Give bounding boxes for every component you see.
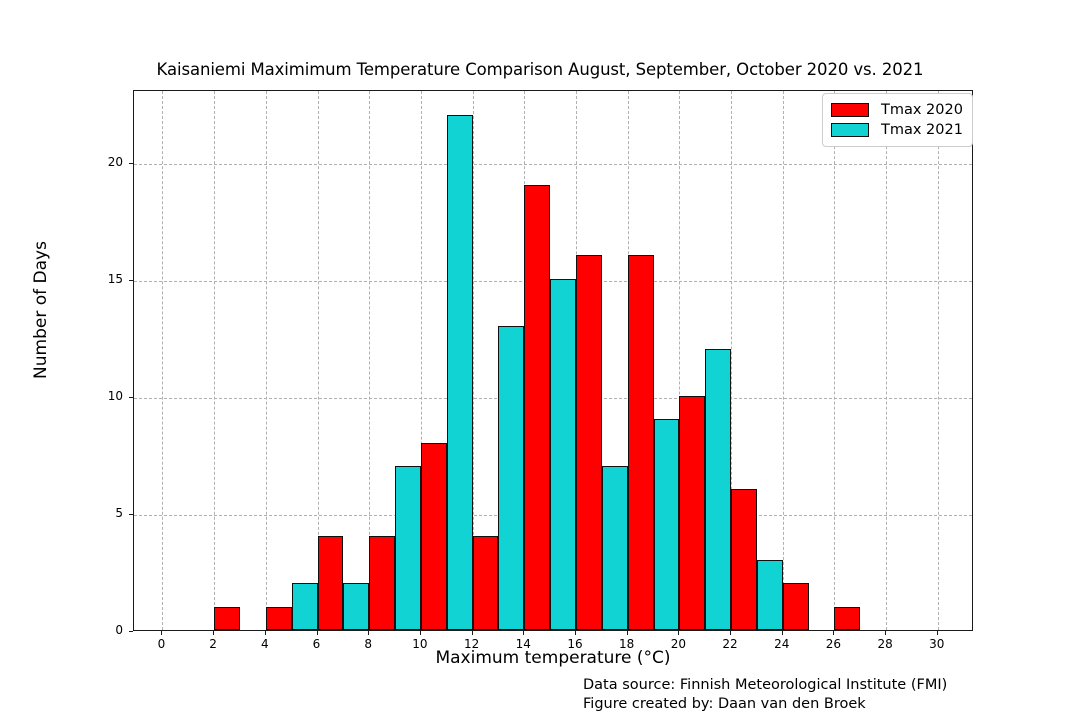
- x-tick-mark: [627, 631, 628, 635]
- gridline-vertical: [214, 91, 215, 630]
- bar-tmax-2021: [757, 560, 783, 630]
- x-tick-mark: [213, 631, 214, 635]
- bar-tmax-2021: [654, 419, 680, 630]
- x-tick-mark: [368, 631, 369, 635]
- x-tick-mark: [523, 631, 524, 635]
- y-tick-mark: [129, 397, 133, 398]
- chart-legend: Tmax 2020 Tmax 2021: [822, 93, 973, 147]
- legend-item: Tmax 2021: [831, 120, 963, 140]
- figure-canvas: Kaisaniemi Maximimum Temperature Compari…: [0, 0, 1080, 720]
- y-tick-label: 0: [93, 623, 123, 637]
- bar-tmax-2021: [292, 583, 318, 630]
- footer-data-source: Data source: Finnish Meteorological Inst…: [583, 676, 947, 695]
- y-tick-mark: [129, 280, 133, 281]
- bar-tmax-2020: [369, 536, 395, 630]
- gridline-horizontal: [134, 164, 972, 165]
- gridline-vertical: [834, 91, 835, 630]
- chart-title: Kaisaniemi Maximimum Temperature Compari…: [0, 60, 1080, 79]
- x-tick-mark: [678, 631, 679, 635]
- plot-area: [133, 90, 973, 631]
- bar-tmax-2020: [731, 489, 757, 630]
- bar-tmax-2020: [679, 396, 705, 630]
- gridline-vertical: [783, 91, 784, 630]
- x-tick-mark: [575, 631, 576, 635]
- x-axis-label: Maximum temperature (°C): [133, 648, 973, 668]
- x-tick-mark: [885, 631, 886, 635]
- legend-label-tmax-2021: Tmax 2021: [881, 122, 963, 138]
- figure-footer: Data source: Finnish Meteorological Inst…: [583, 676, 947, 714]
- bar-tmax-2021: [602, 466, 628, 630]
- legend-item: Tmax 2020: [831, 100, 963, 120]
- bar-tmax-2021: [705, 349, 731, 630]
- bar-tmax-2020: [266, 607, 292, 630]
- x-tick-mark: [265, 631, 266, 635]
- bar-tmax-2021: [498, 326, 524, 630]
- gridline-vertical: [266, 91, 267, 630]
- y-axis-label: Number of Days: [31, 160, 51, 460]
- bar-tmax-2020: [421, 443, 447, 630]
- bar-tmax-2020: [628, 255, 654, 630]
- x-tick-mark: [937, 631, 938, 635]
- gridline-vertical: [886, 91, 887, 630]
- footer-author: Figure created by: Daan van den Broek: [583, 695, 947, 714]
- gridline-vertical: [938, 91, 939, 630]
- y-tick-mark: [129, 514, 133, 515]
- bar-tmax-2021: [447, 115, 473, 630]
- bar-tmax-2020: [473, 536, 499, 630]
- y-tick-mark: [129, 631, 133, 632]
- y-tick-label: 5: [93, 506, 123, 520]
- x-tick-mark: [472, 631, 473, 635]
- gridline-vertical: [162, 91, 163, 630]
- bar-tmax-2020: [524, 185, 550, 630]
- legend-swatch-tmax-2020: [831, 103, 869, 117]
- y-tick-label: 15: [93, 272, 123, 286]
- legend-label-tmax-2020: Tmax 2020: [881, 102, 963, 118]
- x-tick-mark: [317, 631, 318, 635]
- bar-tmax-2021: [550, 279, 576, 630]
- x-tick-mark: [420, 631, 421, 635]
- x-tick-mark: [833, 631, 834, 635]
- y-tick-label: 10: [93, 389, 123, 403]
- legend-swatch-tmax-2021: [831, 123, 869, 137]
- bar-tmax-2021: [343, 583, 369, 630]
- y-tick-mark: [129, 163, 133, 164]
- bar-tmax-2020: [214, 607, 240, 630]
- x-tick-mark: [730, 631, 731, 635]
- bar-tmax-2020: [783, 583, 809, 630]
- bar-tmax-2021: [395, 466, 421, 630]
- bar-tmax-2020: [576, 255, 602, 630]
- bar-tmax-2020: [318, 536, 344, 630]
- y-tick-label: 20: [93, 155, 123, 169]
- bar-tmax-2020: [834, 607, 860, 630]
- x-tick-mark: [782, 631, 783, 635]
- x-tick-mark: [161, 631, 162, 635]
